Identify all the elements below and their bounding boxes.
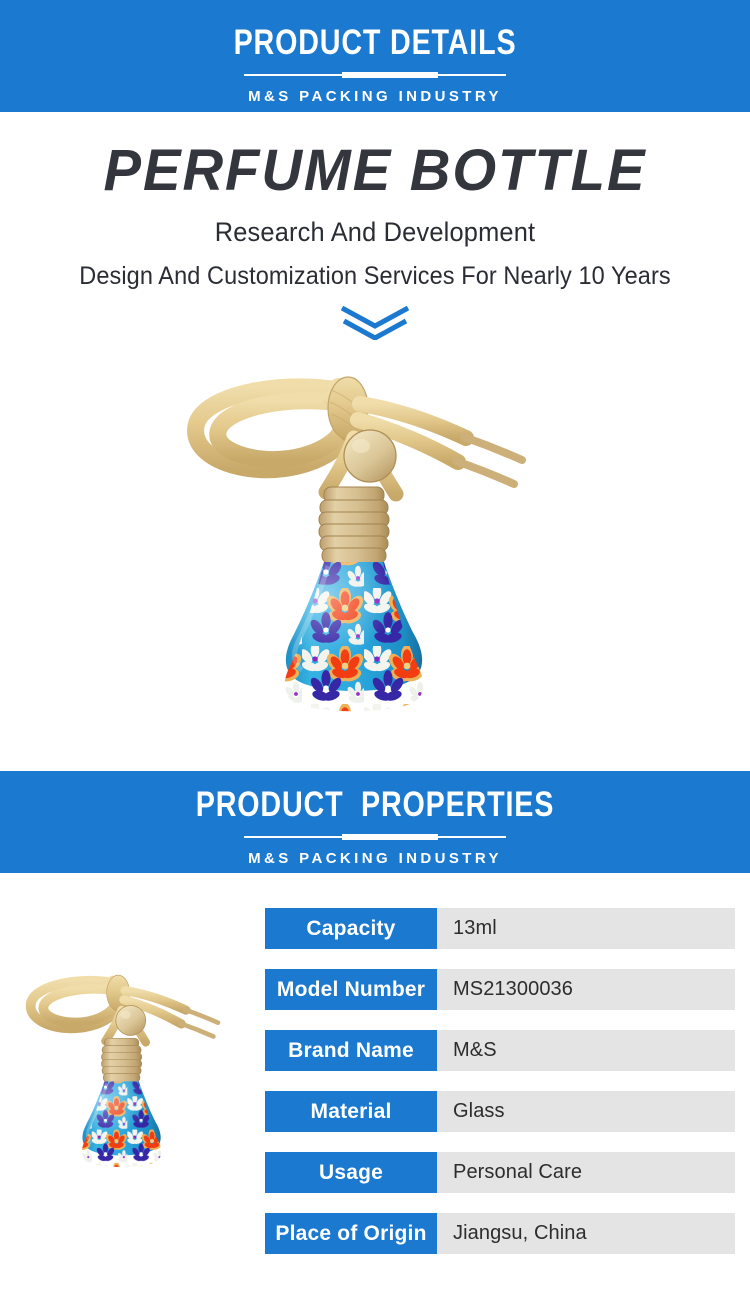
- divider-center-bar: [342, 72, 438, 78]
- property-value: M&S: [437, 1030, 735, 1071]
- property-label: Capacity: [265, 908, 437, 949]
- product-properties-banner: PRODUCT PROPERTIES M&S PACKING INDUSTRY: [0, 771, 750, 873]
- property-label: Model Number: [265, 969, 437, 1010]
- banner-subtitle: M&S PACKING INDUSTRY: [0, 88, 750, 105]
- table-row: Place of Origin Jiangsu, China: [265, 1213, 735, 1254]
- table-row: Usage Personal Care: [265, 1152, 735, 1193]
- table-row: Capacity 13ml: [265, 908, 735, 949]
- banner-title: PRODUCT DETAILS: [68, 0, 683, 63]
- double-chevron-down-icon: [340, 306, 410, 340]
- banner-title: PRODUCT PROPERTIES: [68, 771, 683, 825]
- table-row: Material Glass: [265, 1091, 735, 1132]
- property-value: MS21300036: [437, 969, 735, 1010]
- property-value: Glass: [437, 1091, 735, 1132]
- double-line-divider-icon: [244, 833, 506, 841]
- property-label: Usage: [265, 1152, 437, 1193]
- property-value: 13ml: [437, 908, 735, 949]
- property-value: Personal Care: [437, 1152, 735, 1193]
- perfume-bottle-product-image: [178, 342, 568, 760]
- product-details-banner: PRODUCT DETAILS M&S PACKING INDUSTRY: [0, 0, 750, 112]
- divider-center-bar: [342, 834, 438, 840]
- table-row: Model Number MS21300036: [265, 969, 735, 1010]
- property-label: Place of Origin: [265, 1213, 437, 1254]
- page-title: PERFUME BOTTLE: [11, 112, 739, 204]
- property-label: Material: [265, 1091, 437, 1132]
- double-line-divider-icon: [244, 71, 506, 79]
- product-properties-table: Capacity 13ml Model Number MS21300036 Br…: [265, 908, 735, 1254]
- headline-subtitle-secondary: Design And Customization Services For Ne…: [23, 262, 728, 291]
- banner-subtitle: M&S PACKING INDUSTRY: [0, 850, 750, 867]
- property-label: Brand Name: [265, 1030, 437, 1071]
- headline-section: PERFUME BOTTLE Research And Development …: [0, 112, 750, 322]
- headline-subtitle-primary: Research And Development: [23, 217, 728, 248]
- perfume-bottle-thumbnail-image: [10, 955, 255, 1195]
- table-row: Brand Name M&S: [265, 1030, 735, 1071]
- property-value: Jiangsu, China: [437, 1213, 735, 1254]
